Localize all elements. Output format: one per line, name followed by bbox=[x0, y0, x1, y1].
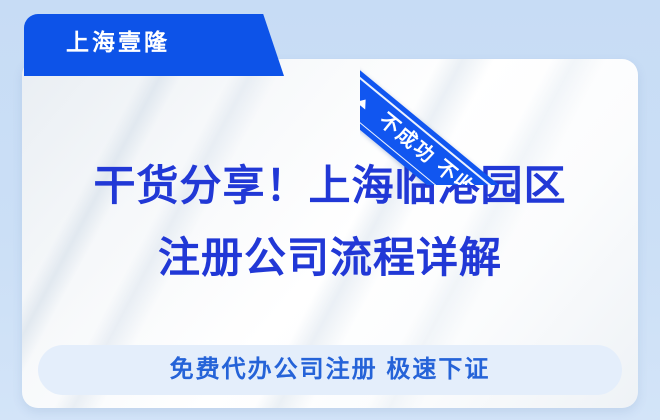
brand-name-label: 上海壹隆 bbox=[66, 27, 170, 57]
footer-banner[interactable]: 免费代办公司注册 极速下证 bbox=[38, 345, 622, 395]
triangle-up-icon bbox=[360, 96, 370, 110]
headline-line-1: 干货分享！上海临港园区 bbox=[22, 150, 638, 222]
headline-block: 干货分享！上海临港园区 注册公司流程详解 bbox=[22, 150, 638, 294]
footer-banner-label: 免费代办公司注册 极速下证 bbox=[170, 358, 491, 382]
promo-poster: 上海壹隆 不成功 不收费 干货分享！上海临港园区 注册公司流程详解 免费代办公司… bbox=[0, 0, 660, 420]
headline-line-2: 注册公司流程详解 bbox=[22, 222, 638, 294]
brand-tab[interactable]: 上海壹隆 bbox=[24, 14, 284, 76]
